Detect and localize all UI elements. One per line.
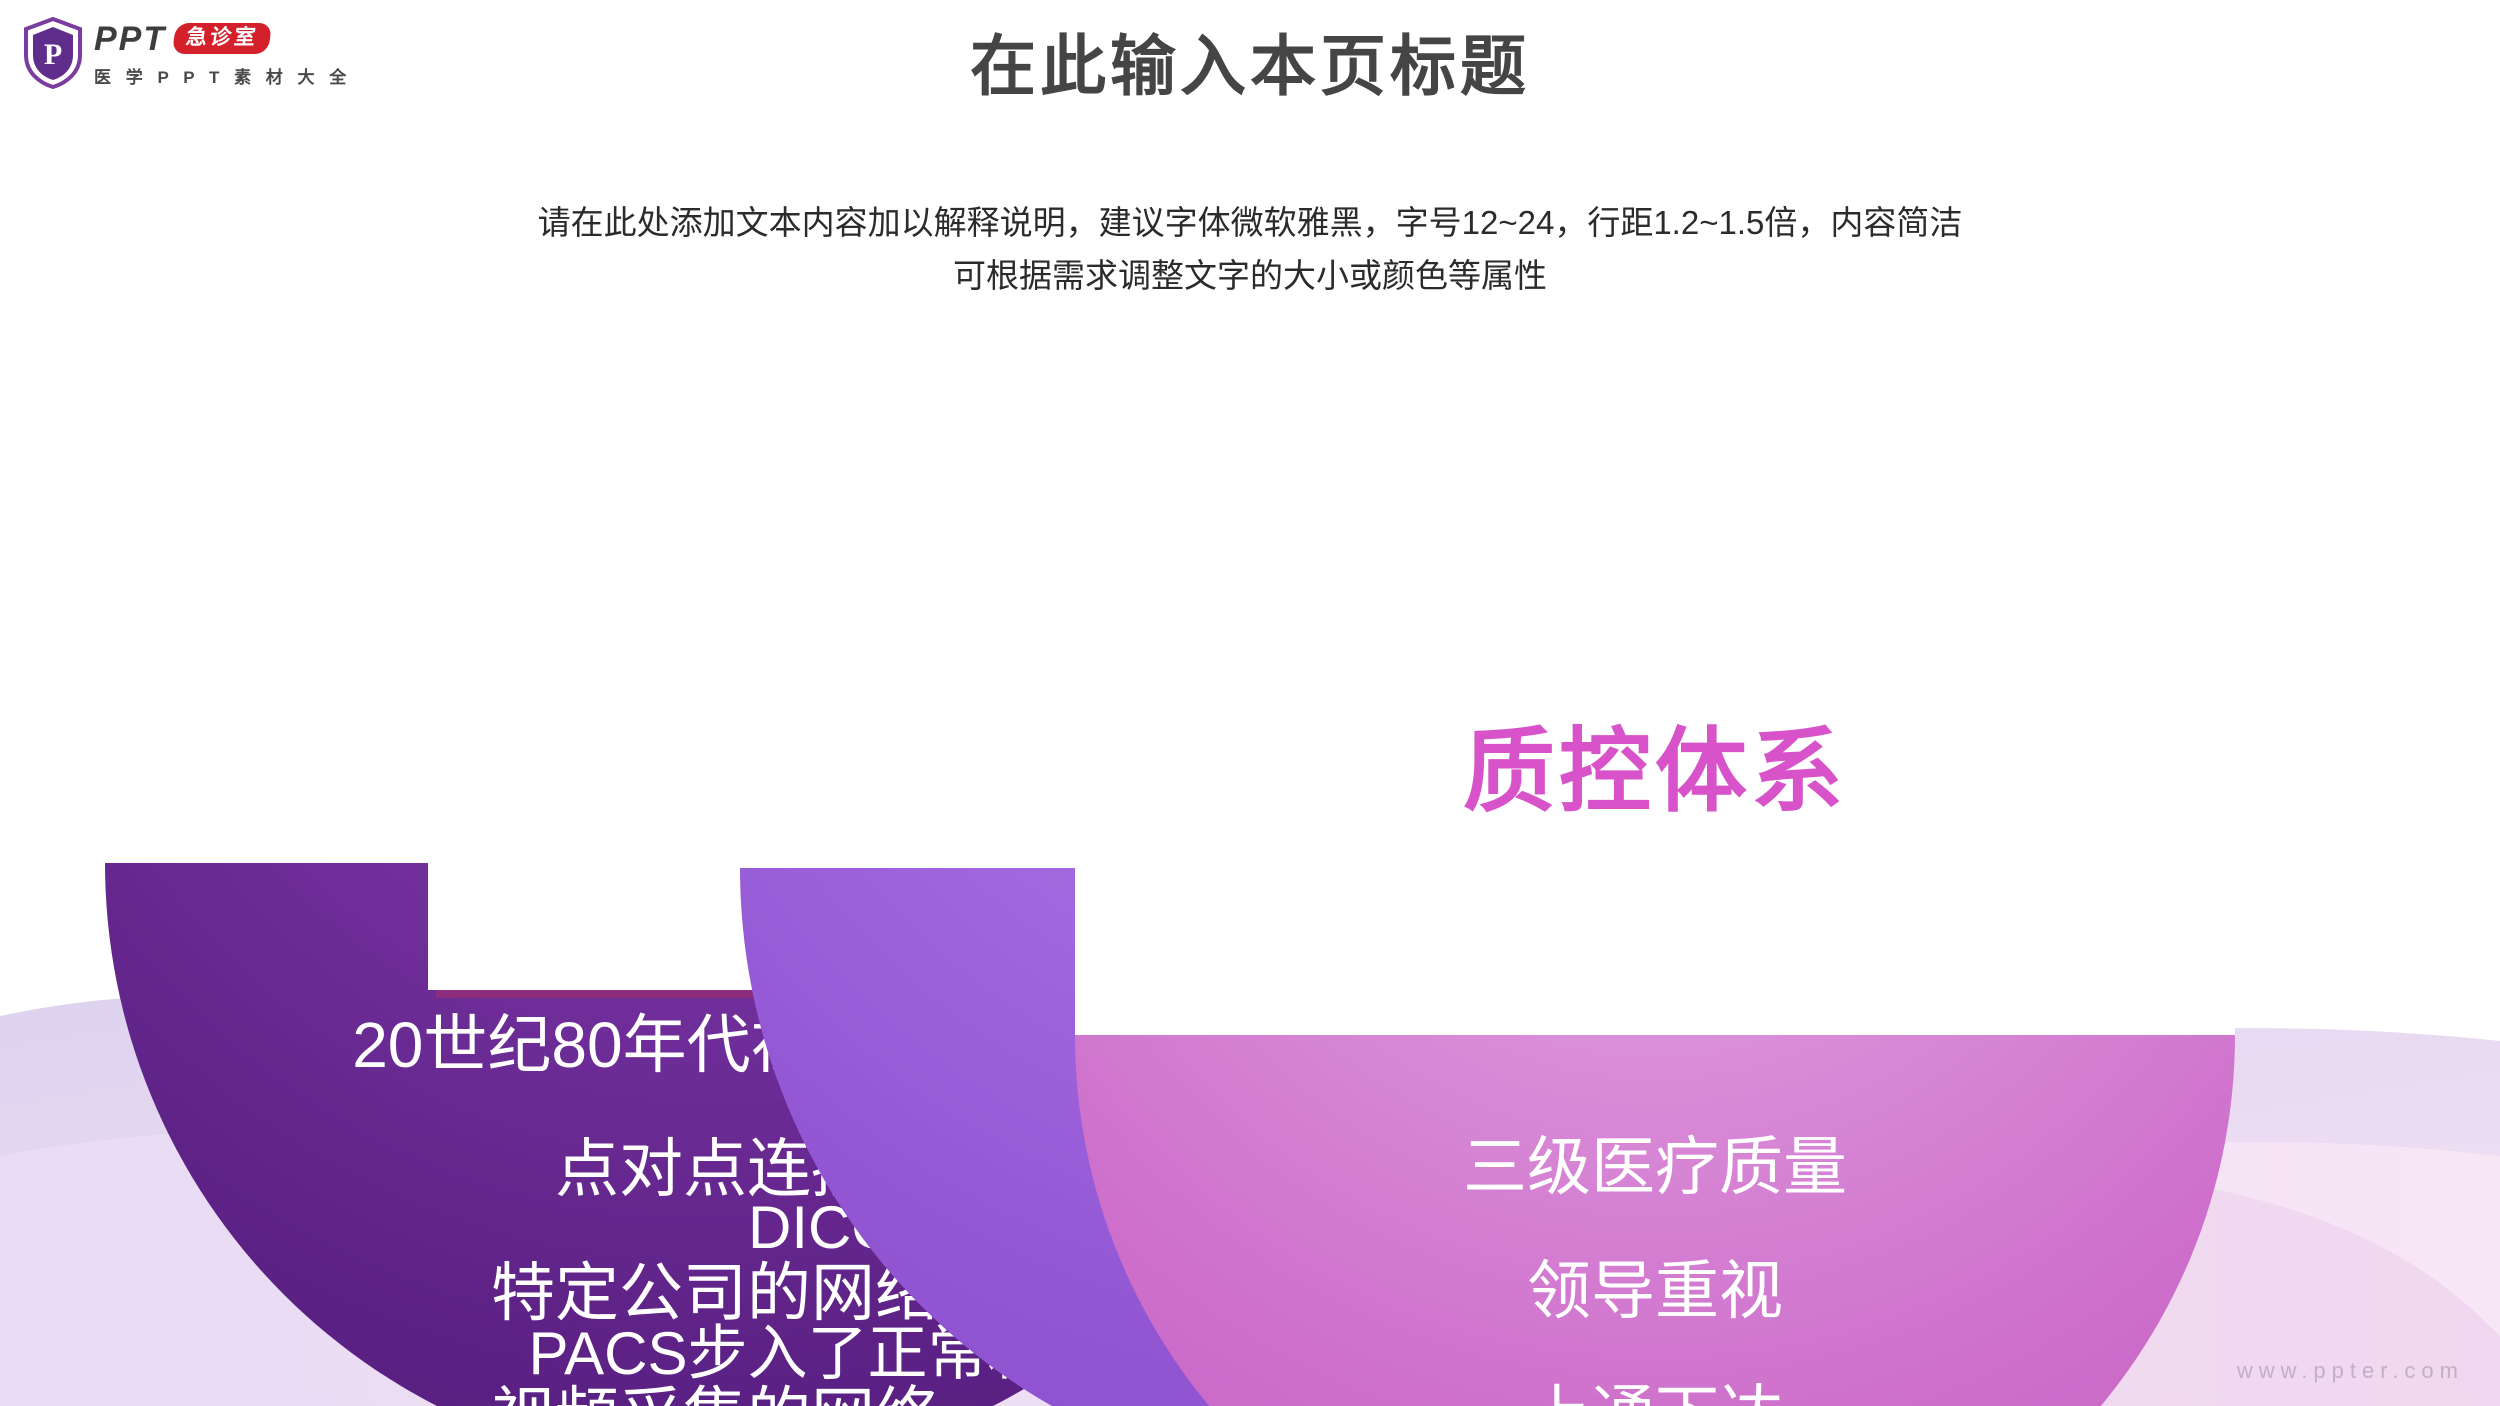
circle-4-heading: 质控体系 — [1075, 699, 2235, 831]
circle-card-4[interactable]: 质控体系 三级医疗质量 领导重视 上通下达 回归临床 — [1075, 455, 2235, 1406]
circle-4-item-3: 上通下达 — [1075, 1383, 2235, 1406]
slide-canvas: P PPT 急诊室 医 学 P P T 素 材 大 全 在此输入本页标题 请在此… — [0, 0, 2500, 1406]
brand-logo: P PPT 急诊室 医 学 P P T 素 材 大 全 — [22, 10, 382, 96]
circle-4-items: 三级医疗质量 领导重视 上通下达 回归临床 — [1075, 1135, 2235, 1406]
subtitle-line-1: 请在此处添加文本内容加以解释说明，建议字体微软雅黑，字号12~24，行距1.2~… — [0, 196, 2500, 249]
logo-tagline: 医 学 P P T 素 材 大 全 — [94, 63, 351, 88]
site-watermark: www.ppter.com — [2237, 1358, 2464, 1384]
logo-badge: 急诊室 — [172, 23, 272, 54]
circle-4-item-1: 三级医疗质量 — [1075, 1135, 2235, 1199]
logo-wordmark: PPT — [94, 22, 166, 56]
circle-4-item-2: 领导重视 — [1075, 1259, 2235, 1323]
svg-text:P: P — [44, 38, 62, 71]
shield-p-icon: P — [22, 17, 84, 89]
page-subtitle: 请在此处添加文本内容加以解释说明，建议字体微软雅黑，字号12~24，行距1.2~… — [0, 196, 2500, 303]
subtitle-line-2: 可根据需求调整文字的大小或颜色等属性 — [0, 249, 2500, 302]
